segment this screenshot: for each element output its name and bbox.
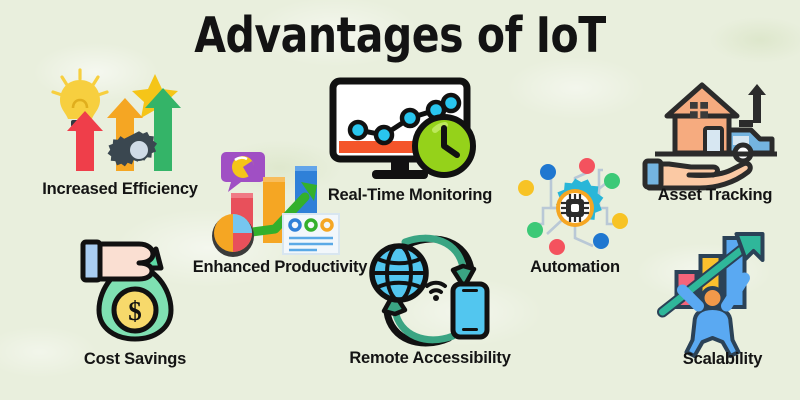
house-coin-car-hand-icon [645, 76, 785, 184]
item-remote-accessibility: Remote Accessibility [330, 236, 530, 381]
globe-smartphone-wifi-arrows-icon [365, 236, 495, 344]
infographic-canvas: Advantages of IoT [0, 0, 800, 400]
item-cost-savings: $ Cost Savings [40, 232, 230, 382]
item-label-scalability: Scalability [683, 350, 762, 369]
item-label-remote-accessibility: Remote Accessibility [349, 349, 510, 368]
svg-text:$: $ [128, 296, 142, 326]
gear-chip-network-icon [515, 158, 635, 258]
page-title: Advantages of IoT [28, 8, 772, 64]
lightbulb-star-arrows-gear-icon [35, 68, 205, 183]
item-asset-tracking: Asset Tracking [630, 76, 800, 216]
money-bag-hand-icon: $ [75, 232, 195, 347]
item-label-asset-tracking: Asset Tracking [658, 186, 773, 205]
item-label-increased-efficiency: Increased Efficiency [42, 180, 198, 199]
item-label-cost-savings: Cost Savings [84, 350, 186, 369]
item-scalability: Scalability [645, 232, 800, 382]
item-label-automation: Automation [530, 258, 620, 277]
person-lifting-growth-arrow-icon [660, 232, 785, 344]
